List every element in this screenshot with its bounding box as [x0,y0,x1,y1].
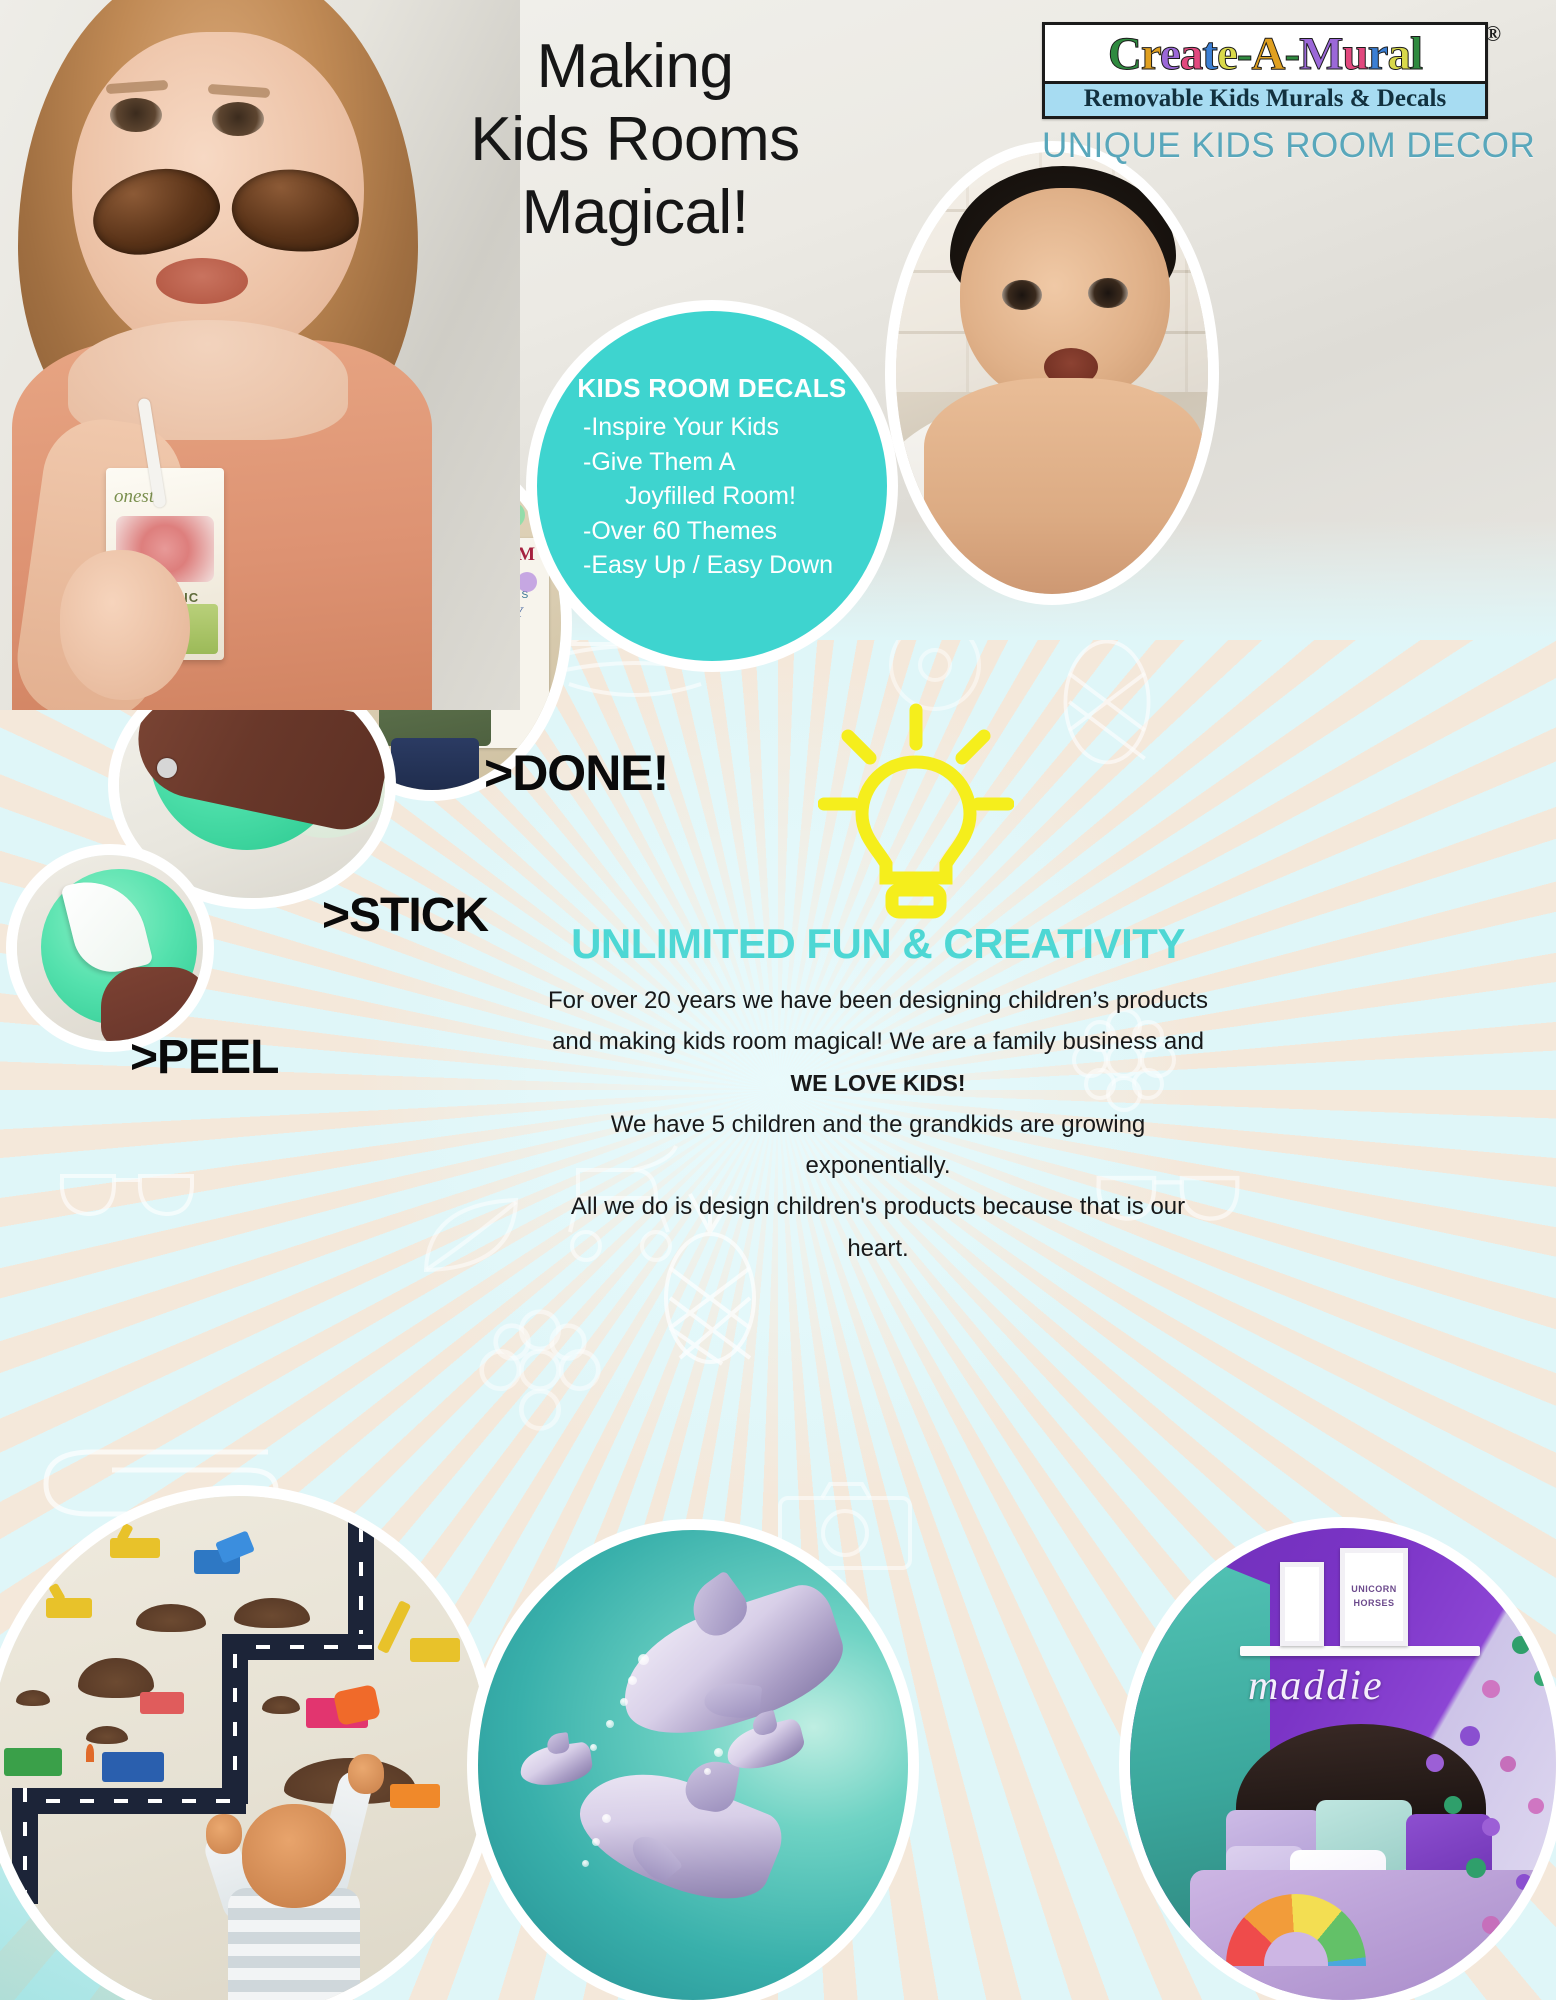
decals-bullet-4: -Easy Up / Easy Down [553,548,871,583]
lightbulb-icon [818,700,1014,920]
picture-frame-unicorn: UNICORN HORSES [1340,1548,1408,1646]
copy-line-1: For over 20 years we have been designing… [548,987,1208,1014]
copy-line-2: and making kids room magical! We are a f… [552,1028,1204,1055]
registered-mark-icon: ® [1485,21,1501,47]
headline-line-2: Kids Rooms [400,103,870,176]
photo-baby-bath [896,152,1208,594]
frame-text-line-1: UNICORN [1345,1584,1403,1594]
copy-line-4: All we do is design children's products … [571,1193,1185,1261]
page-headline: Making Kids Rooms Magical! [400,30,870,249]
photo-dolphin-mural [478,1530,908,2000]
decals-bullet-2: Joyfilled Room! [553,479,871,514]
headline-line-1: Making [400,30,870,103]
toddler-figure [218,1736,368,2000]
about-copy-block: UNLIMITED FUN & CREATIVITY For over 20 y… [548,920,1208,1269]
picture-frame-small [1280,1562,1324,1646]
copy-paragraph: For over 20 years we have been designing… [548,980,1208,1269]
photo-peel-step [17,855,203,1041]
photo-construction-room [0,1496,488,2000]
logo-wordmark: Create-A-Mural [1045,25,1485,81]
decals-bullet-list: -Inspire Your Kids -Give Them A Joyfille… [553,410,871,583]
step-label-done: >DONE! [484,744,668,802]
decals-title: KIDS ROOM DECALS [553,373,871,404]
brand-logo[interactable]: ® Create-A-Mural Removable Kids Murals &… [1042,22,1488,166]
logo-subtitle: Removable Kids Murals & Decals [1045,81,1485,116]
flyer-page: onest ORGANIC Making Kids Rooms Magical!… [0,0,1556,2000]
copy-heading: UNLIMITED FUN & CREATIVITY [548,920,1208,968]
copy-emphasis: WE LOVE KIDS! [790,1070,965,1096]
logo-box: ® Create-A-Mural Removable Kids Murals &… [1042,22,1488,119]
headline-line-3: Magical! [400,176,870,249]
decals-bullet-1: -Give Them A [553,445,871,480]
frame-text-line-2: HORSES [1345,1598,1403,1608]
wall-name-letters: maddie [1248,1662,1478,1710]
step-label-peel: >PEEL [130,1030,278,1085]
step-label-stick: >STICK [322,888,488,943]
decals-bullet-3: -Over 60 Themes [553,514,871,549]
copy-line-3: We have 5 children and the grandkids are… [611,1111,1146,1179]
logo-tagline: UNIQUE KIDS ROOM DECOR [1042,126,1488,166]
kids-room-decals-callout: KIDS ROOM DECALS -Inspire Your Kids -Giv… [537,311,887,661]
photo-unicorn-bedroom: UNICORN HORSES maddie UNICORNS [1130,1528,1556,2000]
decals-bullet-0: -Inspire Your Kids [553,410,871,445]
